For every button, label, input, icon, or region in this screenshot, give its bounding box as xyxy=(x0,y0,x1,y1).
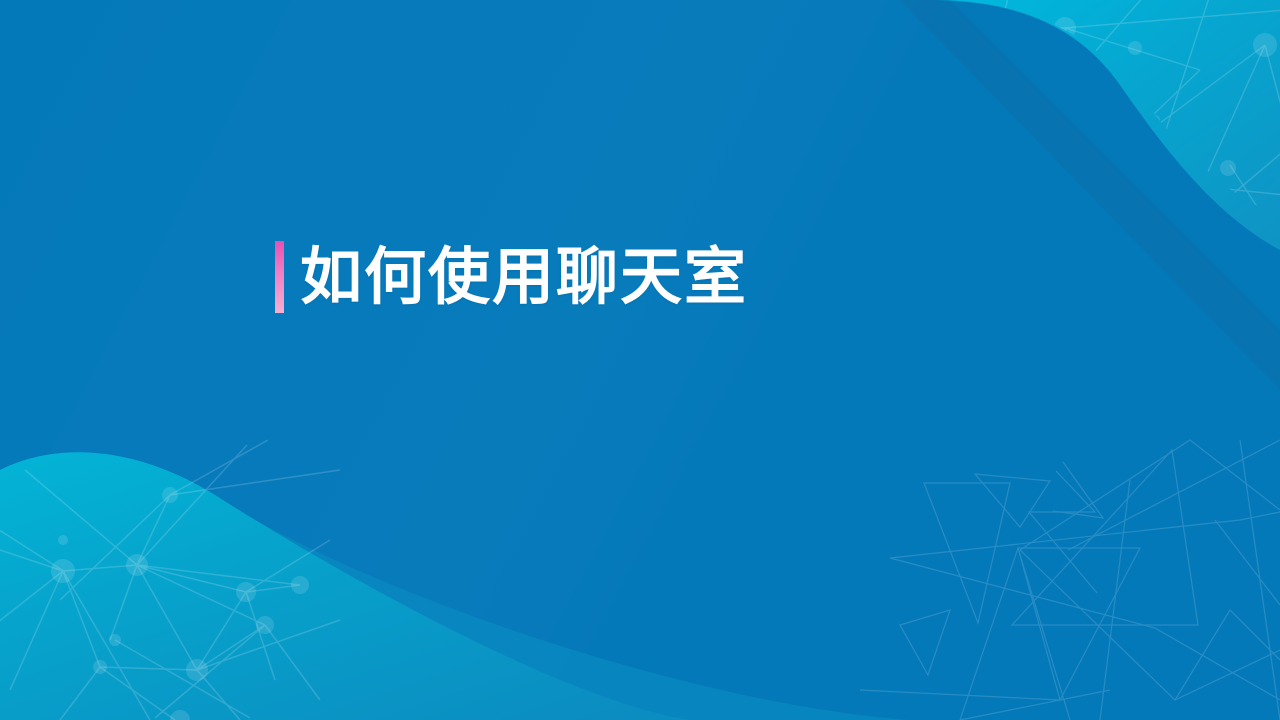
background-sheen xyxy=(0,0,1280,720)
top-right-shadow-band xyxy=(900,0,1280,390)
title-accent-bar xyxy=(275,241,284,313)
bottom-left-decoration xyxy=(0,0,1280,720)
bottom-left-network-nodes xyxy=(51,487,309,720)
bottom-right-geometry-decoration xyxy=(0,0,1280,720)
slide-title: 如何使用聊天室 xyxy=(300,241,748,313)
top-right-network-pattern xyxy=(985,0,1280,300)
bottom-left-network-pattern xyxy=(0,440,340,720)
bottom-left-wave-soft-band xyxy=(0,454,960,720)
bottom-left-cyan-wave xyxy=(0,452,690,720)
presentation-slide: 如何使用聊天室 xyxy=(0,0,1280,720)
top-right-cyan-wedge xyxy=(935,0,1280,250)
top-right-network-nodes xyxy=(991,17,1277,240)
top-right-decoration xyxy=(0,0,1280,720)
slide-title-block: 如何使用聊天室 xyxy=(275,241,748,313)
geometric-polygon-lines xyxy=(860,440,1280,720)
